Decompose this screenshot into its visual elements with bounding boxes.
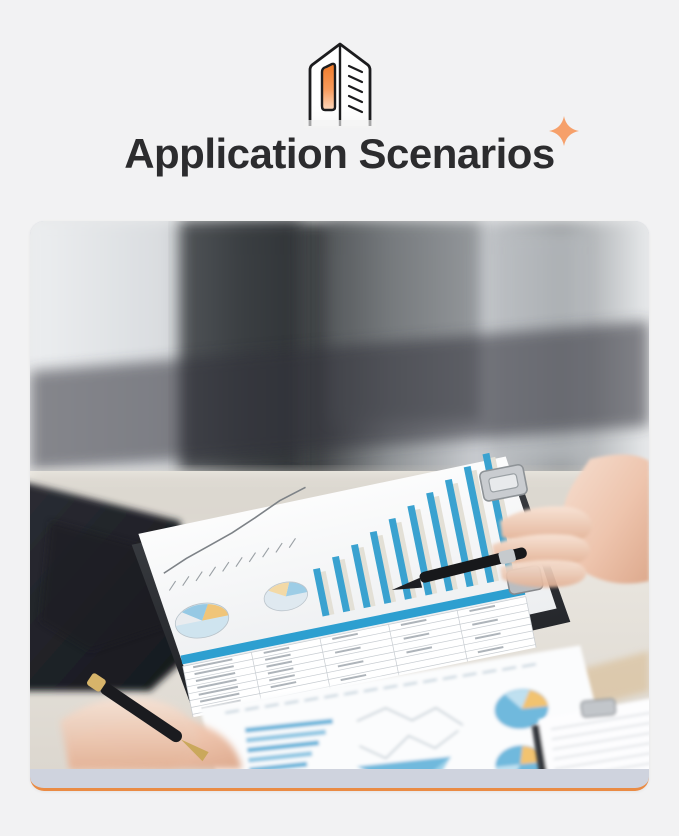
title-wrap: Application Scenarios	[124, 128, 555, 180]
page-title: Application Scenarios	[124, 130, 555, 177]
page-header: Application Scenarios	[0, 0, 679, 210]
scenario-photo	[30, 221, 649, 769]
sparkle-icon	[547, 114, 581, 148]
photo-panel: Document Con	[30, 221, 649, 791]
title-row: Application Scenarios	[0, 128, 679, 180]
application-scenarios-page: Application Scenarios	[0, 0, 679, 836]
